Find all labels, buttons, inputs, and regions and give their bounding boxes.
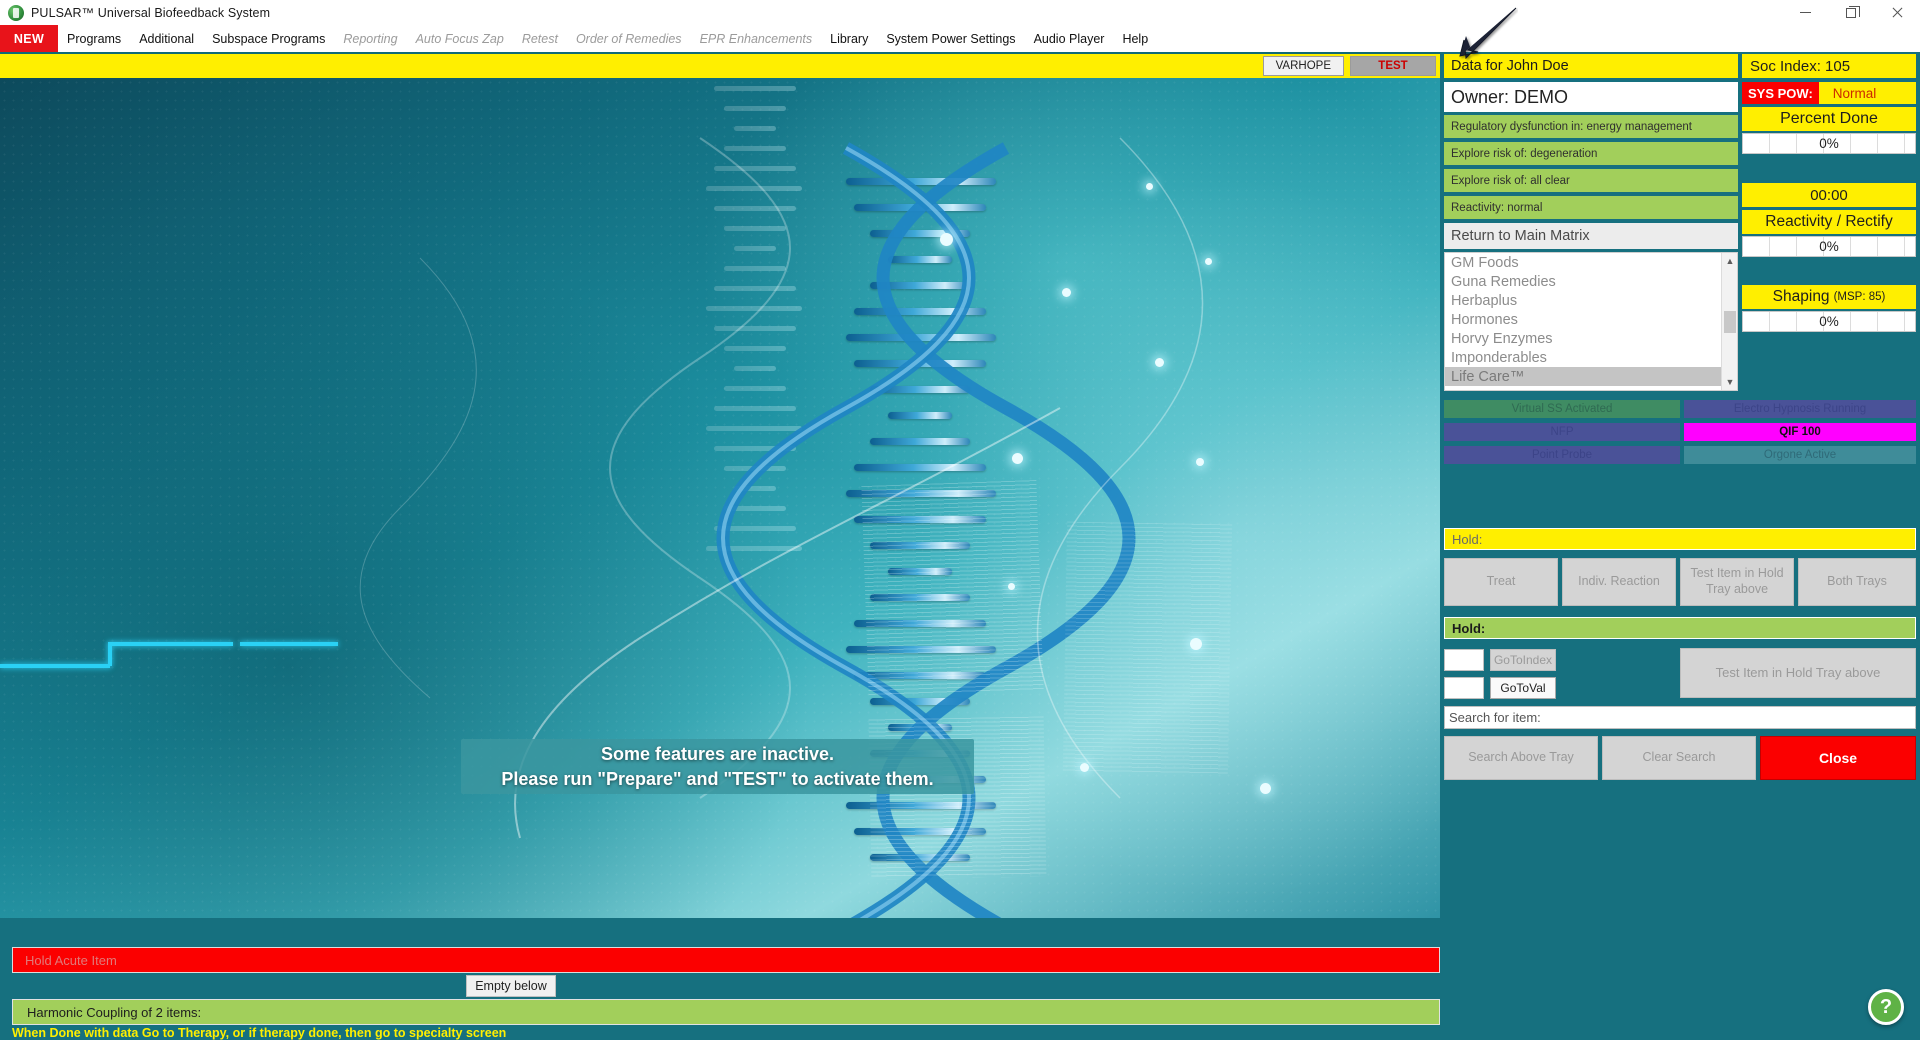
both-trays-button[interactable]: Both Trays <box>1798 558 1916 606</box>
menu-item-order-of-remedies: Order of Remedies <box>567 25 691 52</box>
harmonic-coupling-label: Harmonic Coupling of 2 items: <box>27 1005 201 1020</box>
glow-dot <box>1080 763 1089 772</box>
glow-dot <box>1260 783 1271 794</box>
scrollbar-thumb[interactable] <box>1724 311 1736 333</box>
title-bar: PULSAR™ Universal Biofeedback System <box>0 0 1920 25</box>
toolbar-strip: VARHOPE TEST <box>0 52 1440 78</box>
menu-item-additional[interactable]: Additional <box>130 25 203 52</box>
sys-pow-status: SYS POW: Normal <box>1742 82 1916 104</box>
glow-dot <box>940 233 953 246</box>
list-item[interactable]: Life Care™ <box>1445 367 1737 386</box>
window-title: PULSAR™ Universal Biofeedback System <box>31 6 270 20</box>
empty-below-tooltip: Empty below <box>466 975 556 997</box>
search-placeholder-text: Search for item: <box>1449 710 1541 725</box>
maximize-button[interactable] <box>1828 0 1874 25</box>
menu-item-reporting: Reporting <box>334 25 406 52</box>
close-button[interactable]: Close <box>1760 736 1916 780</box>
maximize-icon <box>1846 8 1856 18</box>
glow-dot <box>1205 258 1212 265</box>
indiv-reaction-button[interactable]: Indiv. Reaction <box>1562 558 1676 606</box>
list-item[interactable]: Hormones <box>1445 310 1737 329</box>
minimize-icon <box>1800 12 1811 13</box>
dna-background: Some features are inactive. Please run "… <box>0 78 1440 918</box>
menu-bar: NEW Programs Additional Subspace Program… <box>0 25 1920 52</box>
goto-val-input[interactable] <box>1444 677 1484 699</box>
goto-index-button[interactable]: GoToIndex <box>1490 649 1556 671</box>
menu-item-programs[interactable]: Programs <box>58 25 130 52</box>
footer-instruction: When Done with data Go to Therapy, or if… <box>12 1026 1012 1040</box>
menu-item-library[interactable]: Library <box>821 25 877 52</box>
close-window-button[interactable] <box>1874 0 1920 25</box>
test-button[interactable]: TEST <box>1350 56 1436 76</box>
percent-done-progress: 0% <box>1742 133 1916 154</box>
glow-dot <box>1190 638 1202 650</box>
varhope-button[interactable]: VARHOPE <box>1263 56 1344 76</box>
background-text-block-1 <box>861 480 1043 696</box>
menu-item-epr-enhancements: EPR Enhancements <box>691 25 822 52</box>
list-item[interactable]: Herbaplus <box>1445 291 1737 310</box>
info-row-regulatory-dysfunction: Regulatory dysfunction in: energy manage… <box>1444 115 1738 138</box>
hold-tray-green[interactable]: Hold: <box>1444 617 1916 639</box>
list-item[interactable]: Horvy Enzymes <box>1445 329 1737 348</box>
status-qif-100[interactable]: QIF 100 <box>1684 423 1916 441</box>
glow-dot <box>1008 583 1015 590</box>
timer-display: 00:00 <box>1742 183 1916 207</box>
listbox-scrollbar[interactable]: ▲ ▼ <box>1721 253 1737 390</box>
minimize-button[interactable] <box>1782 0 1828 25</box>
window-controls <box>1782 0 1920 25</box>
test-item-hold-tray-button[interactable]: Test Item in Hold Tray above <box>1680 558 1794 606</box>
circuit-trace-decoration <box>0 618 700 668</box>
treat-button[interactable]: Treat <box>1444 558 1558 606</box>
status-electro-hypnosis-running[interactable]: Electro Hypnosis Running <box>1684 400 1916 418</box>
goto-index-input[interactable] <box>1444 649 1484 671</box>
glow-dot <box>1012 453 1023 464</box>
close-icon <box>1891 7 1903 19</box>
background-text-block-2 <box>1063 522 1232 775</box>
category-listbox[interactable]: GM Foods Guna Remedies Herbaplus Hormone… <box>1444 252 1738 391</box>
menu-item-system-power-settings[interactable]: System Power Settings <box>877 25 1024 52</box>
status-virtual-ss-activated[interactable]: Virtual SS Activated <box>1444 400 1680 418</box>
menu-item-audio-player[interactable]: Audio Player <box>1025 25 1114 52</box>
search-input[interactable]: Search for item: <box>1444 706 1916 729</box>
menu-new-button[interactable]: NEW <box>0 25 58 52</box>
soc-index-metric: Soc Index: 105 <box>1742 54 1916 78</box>
shaping-progress: 0% <box>1742 311 1916 332</box>
test-item-hold-tray-label: Test Item in Hold Tray above <box>1687 566 1787 597</box>
menu-item-subspace-programs[interactable]: Subspace Programs <box>203 25 334 52</box>
pulsar-logo-icon <box>8 5 24 21</box>
clear-search-button[interactable]: Clear Search <box>1602 736 1756 780</box>
application-window: PULSAR™ Universal Biofeedback System NEW… <box>0 0 1920 1040</box>
shaping-title: Shaping <box>1773 288 1830 306</box>
list-item[interactable]: GM Foods <box>1445 253 1737 272</box>
reactivity-rectify-progress: 0% <box>1742 236 1916 257</box>
notice-line-1: Some features are inactive. <box>601 742 834 766</box>
shaping-msp: (MSP: 85) <box>1834 291 1886 303</box>
glow-dot <box>1146 183 1153 190</box>
list-item[interactable]: Imponderables <box>1445 348 1737 367</box>
status-orgone-active[interactable]: Orgone Active <box>1684 446 1916 464</box>
help-button[interactable]: ? <box>1868 989 1904 1025</box>
status-point-probe[interactable]: Point Probe <box>1444 446 1680 464</box>
shaping-label: Shaping (MSP: 85) <box>1742 285 1916 309</box>
list-item[interactable]: Guna Remedies <box>1445 272 1737 291</box>
sys-pow-value: Normal <box>1819 86 1877 101</box>
glow-dot <box>1155 358 1164 367</box>
menu-item-retest: Retest <box>513 25 567 52</box>
status-nfp[interactable]: NFP <box>1444 423 1680 441</box>
chevron-down-icon[interactable]: ▼ <box>1722 374 1738 390</box>
test-item-in-hold-tray-above-button[interactable]: Test Item in Hold Tray above <box>1680 648 1916 698</box>
notice-line-2: Please run "Prepare" and "TEST" to activ… <box>501 767 933 791</box>
return-to-main-matrix-button[interactable]: Return to Main Matrix <box>1444 223 1738 249</box>
inactive-features-notice: Some features are inactive. Please run "… <box>461 739 974 794</box>
glow-dot <box>1196 458 1204 466</box>
chevron-up-icon[interactable]: ▲ <box>1722 253 1738 269</box>
harmonic-coupling-field[interactable]: Harmonic Coupling of 2 items: <box>12 999 1440 1025</box>
menu-item-auto-focus-zap: Auto Focus Zap <box>407 25 513 52</box>
reactivity-rectify-label: Reactivity / Rectify <box>1742 210 1916 234</box>
percent-done-label: Percent Done <box>1742 107 1916 131</box>
goto-val-button[interactable]: GoToVal <box>1490 677 1556 699</box>
question-mark-icon: ? <box>1880 996 1892 1019</box>
search-above-tray-button[interactable]: Search Above Tray <box>1444 736 1598 780</box>
hold-acute-item-field[interactable]: Hold Acute Item <box>12 947 1440 973</box>
glow-dot <box>1062 288 1071 297</box>
menu-item-help[interactable]: Help <box>1113 25 1157 52</box>
data-header-bar: Data for John Doe <box>1444 54 1738 78</box>
info-row-explore-risk-degeneration: Explore risk of: degeneration <box>1444 142 1738 165</box>
info-row-explore-risk-all-clear: Explore risk of: all clear <box>1444 169 1738 192</box>
right-control-panel: Data for John Doe Owner: DEMO Regulatory… <box>1440 52 1920 1040</box>
hold-acute-item-placeholder: Hold Acute Item <box>25 953 117 968</box>
hold-tray-yellow[interactable]: Hold: <box>1444 528 1916 550</box>
info-row-reactivity: Reactivity: normal <box>1444 196 1738 219</box>
sys-pow-label: SYS POW: <box>1742 82 1819 104</box>
owner-bar: Owner: DEMO <box>1444 82 1738 112</box>
